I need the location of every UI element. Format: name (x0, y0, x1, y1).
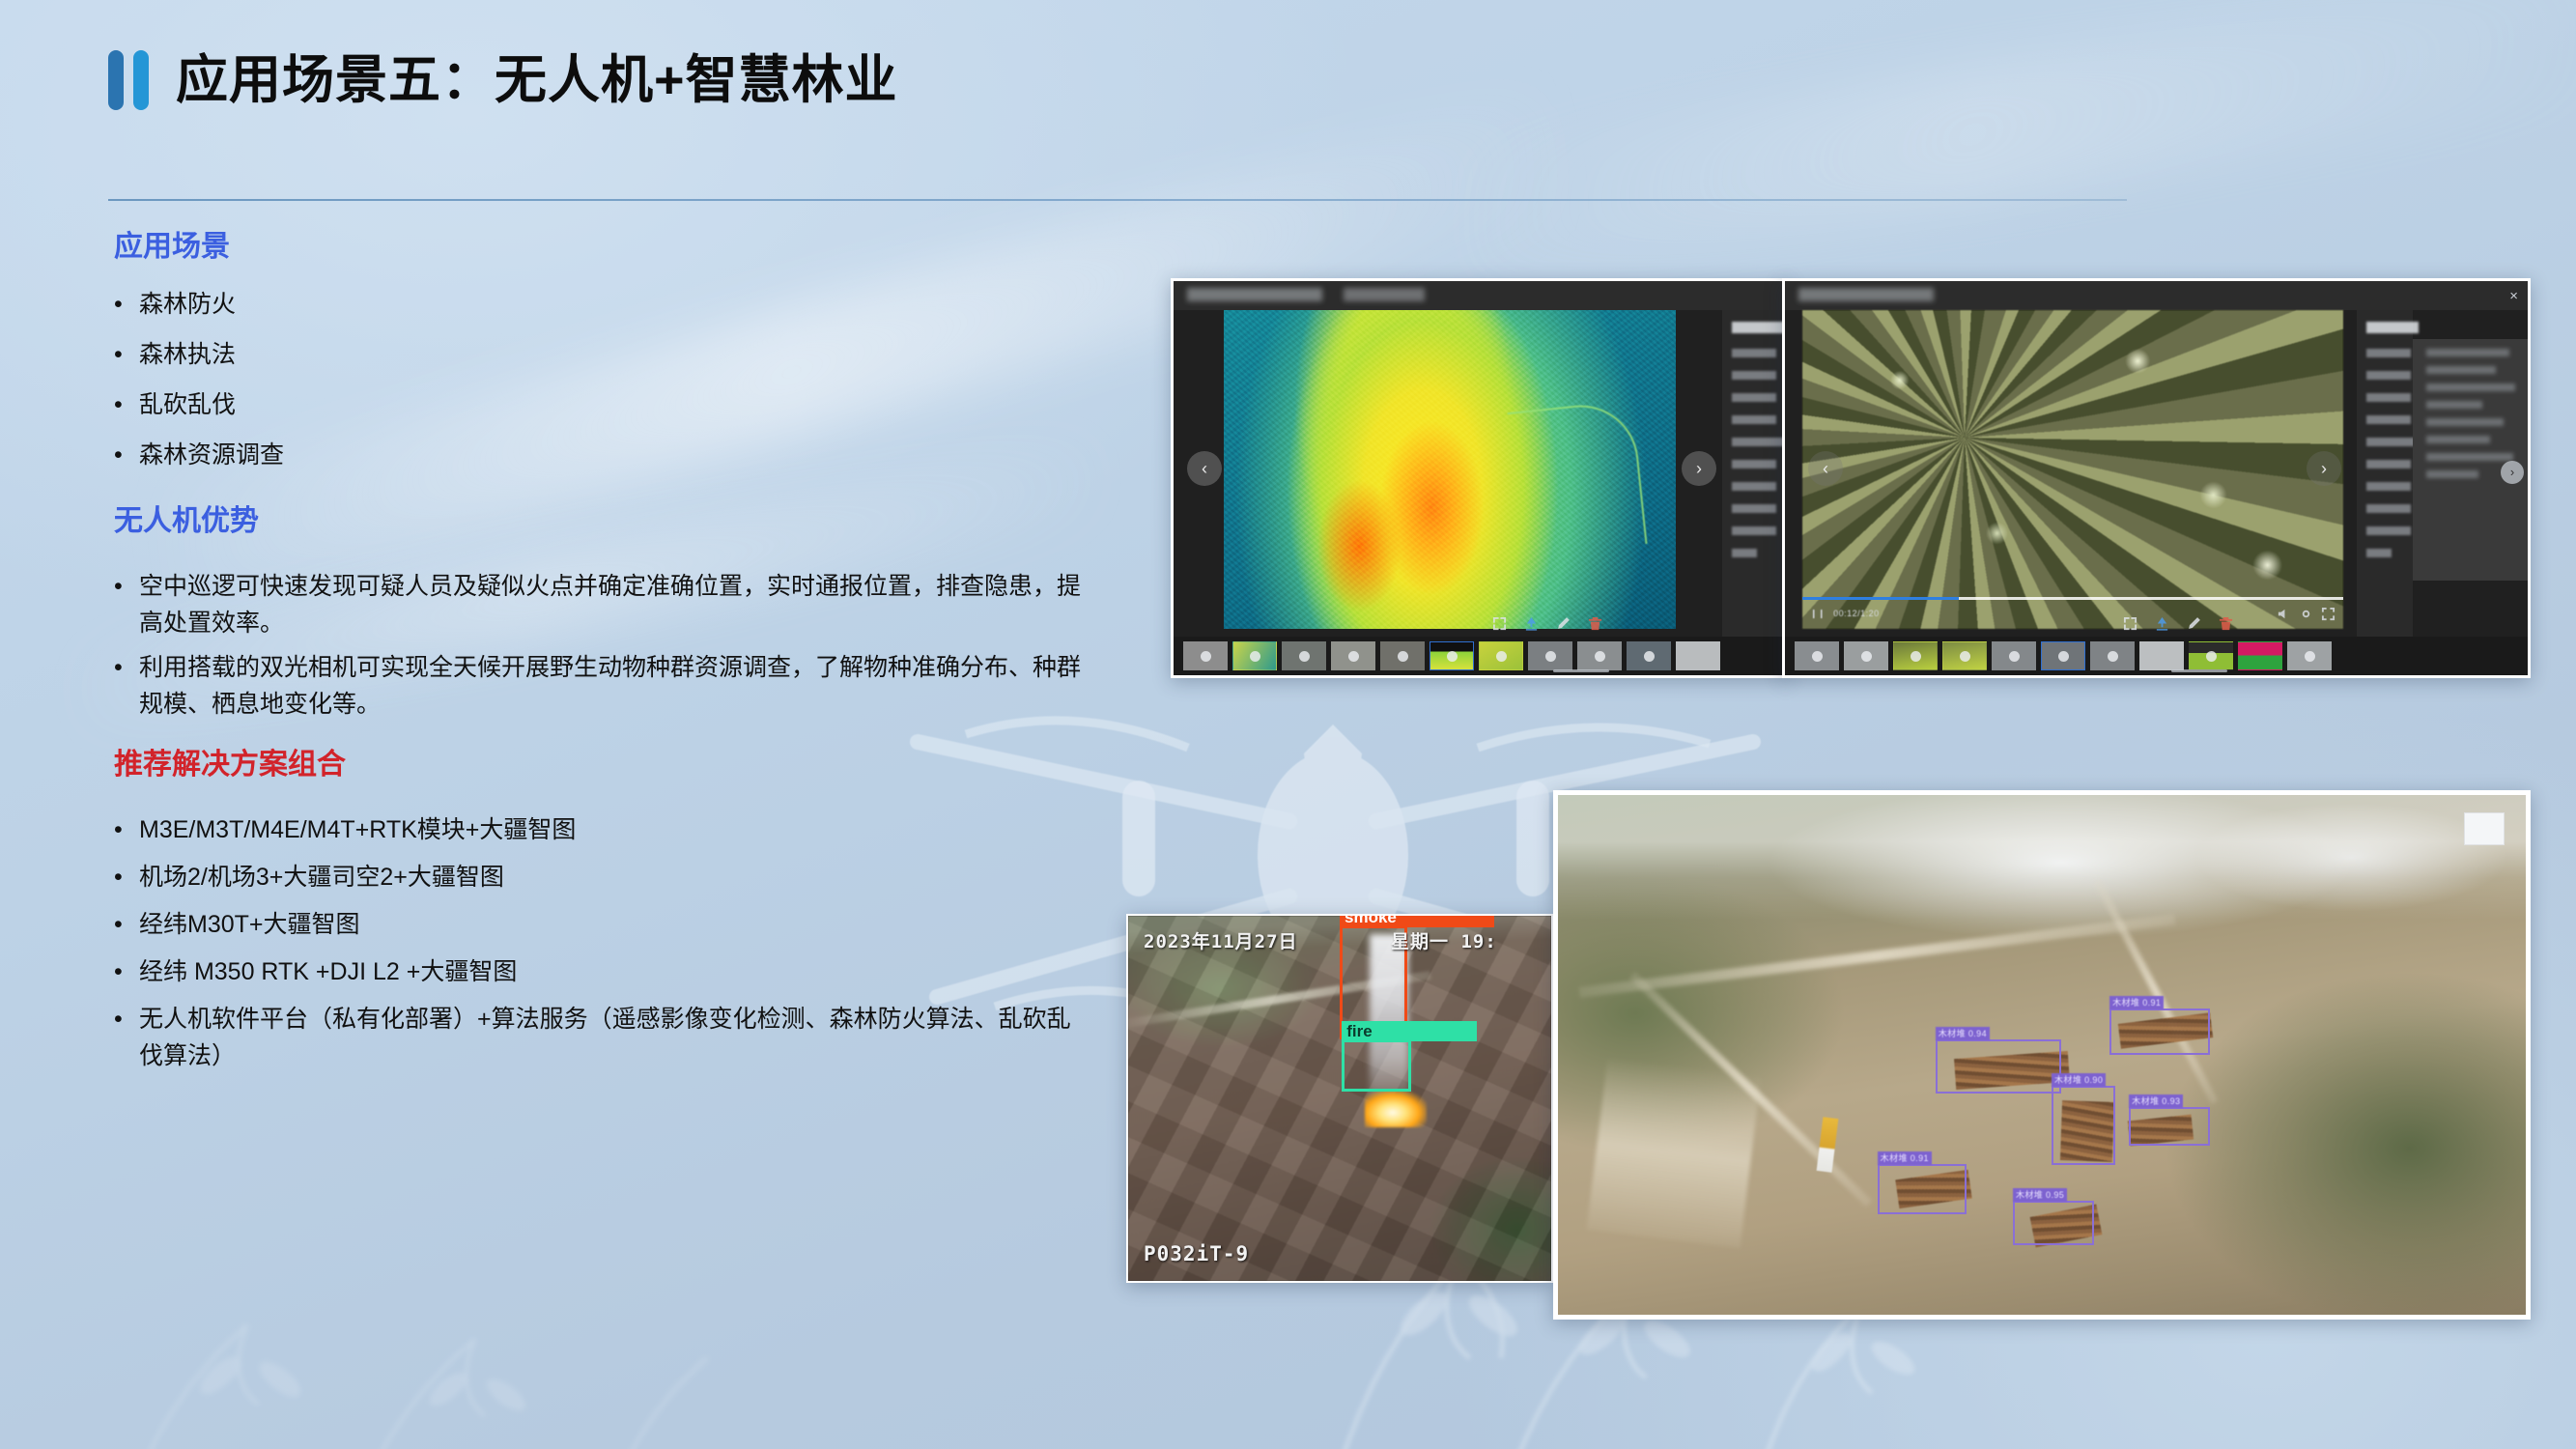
detail-line-blur (2426, 418, 2504, 426)
screenshot-logging-detection[interactable]: 木材堆 0.94 木材堆 0.91 木材堆 0.90 木材堆 0.93 木材堆 … (1553, 790, 2531, 1320)
list-item: • 利用搭载的双光相机可实现全天候开展野生动物种群资源调查，了解物种准确分布、种… (114, 649, 1090, 723)
osd-timestamp: 2023年11月27日 (1144, 927, 1298, 953)
detection-box-timber: 木材堆 0.94 (1936, 1039, 2061, 1094)
bullet-glyph: • (114, 286, 139, 323)
video-time-label: 00:12/1:20 (1833, 609, 1880, 618)
viewer-titlebar (1174, 281, 1786, 310)
play-icon (2058, 651, 2069, 662)
viewer-titlebar (1785, 281, 2528, 310)
detail-line-blur (2426, 384, 2515, 391)
detection-box-timber: 木材堆 0.93 (2129, 1107, 2210, 1146)
prev-arrow-button[interactable]: ‹ (1808, 451, 1843, 486)
list-item-label: 空中巡逻可快速发现可疑人员及疑似火点并确定准确位置，实时通报位置，排查隐患，提高… (139, 568, 1090, 641)
bullet-list-scenario: • 森林防火 • 森林执法 • 乱砍乱伐 • 森林资源调查 (114, 286, 1090, 473)
play-icon (1496, 651, 1507, 662)
sidebar-item-blur[interactable] (1732, 526, 1776, 535)
play-icon (1398, 651, 1408, 662)
image-stage (1224, 310, 1676, 629)
video-progress-bar[interactable] (1802, 597, 2343, 600)
close-icon[interactable]: × (2509, 289, 2518, 303)
play-icon (1960, 651, 1970, 662)
thumbnail-item[interactable] (1282, 641, 1326, 670)
bullet-glyph: • (114, 953, 139, 990)
viewer-chrome: ❙❙ 00:12/1:20 ‹ › (1785, 281, 2528, 675)
thumbnail-item[interactable] (1232, 641, 1277, 670)
slide-header: 应用场景五：无人机+智慧林业 (108, 50, 898, 110)
section-heading-advantages: 无人机优势 (114, 504, 1090, 539)
list-item-label: 森林执法 (139, 336, 1090, 373)
thumbnail-item[interactable] (1380, 641, 1425, 670)
corner-overlay-chip (2464, 812, 2505, 845)
thumbnail-scrollbar[interactable] (2171, 669, 2227, 672)
detection-label-smoke: smoke (1340, 914, 1494, 927)
sidebar-item-blur[interactable] (2366, 349, 2411, 357)
thumbnail-item-selected[interactable] (1430, 641, 1474, 670)
sidebar-item-blur[interactable] (1732, 438, 1786, 446)
titlebar-text-blur (1187, 288, 1322, 301)
bullet-glyph: • (114, 568, 139, 605)
video-toolbar[interactable] (2123, 616, 2233, 631)
foliage-watermark-icon (39, 1217, 773, 1449)
play-icon (1447, 651, 1458, 662)
settings-icon[interactable] (2299, 607, 2313, 621)
edit-icon[interactable] (2187, 616, 2201, 631)
title-divider (108, 199, 2127, 201)
detection-label-timber: 木材堆 0.90 (2052, 1073, 2106, 1087)
list-item-label: M3E/M3T/M4E/M4T+RTK模块+大疆智图 (139, 811, 1090, 848)
thumbnail-item[interactable] (2287, 641, 2332, 670)
list-item: • 森林防火 (114, 286, 1090, 323)
collapse-panel-button[interactable]: › (2501, 461, 2524, 484)
play-icon (1861, 651, 1872, 662)
list-item: • 乱砍乱伐 (114, 386, 1090, 423)
play-icon (2206, 651, 2217, 662)
list-item-label: 机场2/机场3+大疆司空2+大疆智图 (139, 859, 1090, 895)
list-item-label: 经纬 M350 RTK +DJI L2 +大疆智图 (139, 953, 1090, 990)
thumbnail-item[interactable] (1893, 641, 1938, 670)
list-item-label: 森林资源调查 (139, 437, 1090, 473)
flame-feature (1365, 1091, 1427, 1127)
next-arrow-button[interactable]: › (1682, 451, 1716, 486)
detail-line-blur (2426, 366, 2496, 374)
content-column: 应用场景 • 森林防火 • 森林执法 • 乱砍乱伐 • 森林资源调查 无人机优势 (114, 230, 1090, 1085)
detail-line-blur (2426, 349, 2509, 356)
prev-arrow-button[interactable]: ‹ (1187, 451, 1222, 486)
detection-label-timber: 木材堆 0.93 (2129, 1094, 2183, 1108)
sidebar-item-blur[interactable] (2366, 371, 2411, 380)
detection-label-timber: 木材堆 0.94 (1936, 1027, 1990, 1040)
detection-label-timber: 木材堆 0.91 (1878, 1151, 1932, 1165)
list-item: • 空中巡逻可快速发现可疑人员及疑似火点并确定准确位置，实时通报位置，排查隐患，… (114, 568, 1090, 641)
sidebar-item-blur[interactable] (1732, 482, 1776, 491)
accent-bar-dark (108, 50, 124, 110)
detection-box-fire: fire (1342, 1039, 1411, 1092)
list-item: • 森林资源调查 (114, 437, 1090, 473)
video-controls[interactable]: ❙❙ 00:12/1:20 (1802, 604, 2343, 623)
sidebar-item-blur[interactable] (2366, 482, 2411, 491)
fullscreen-icon[interactable] (2123, 616, 2137, 631)
detection-label-timber: 木材堆 0.91 (2109, 996, 2164, 1009)
section-heading-solutions: 推荐解决方案组合 (114, 748, 1090, 782)
thumbnail-item[interactable] (1676, 641, 1720, 670)
detail-line-blur (2426, 453, 2513, 461)
list-item: • 经纬M30T+大疆智图 (114, 906, 1090, 943)
next-arrow-button[interactable]: › (2307, 451, 2341, 486)
thumbnail-item[interactable] (1844, 641, 1888, 670)
sidebar-item-blur[interactable] (2366, 415, 2411, 424)
section-heading-scenario: 应用场景 (114, 230, 1090, 265)
bullet-glyph: • (114, 336, 139, 373)
list-item-label: 森林防火 (139, 286, 1090, 323)
osd-camera-id: P032iT-9 (1144, 1242, 1249, 1265)
title-accent-bars (108, 50, 149, 110)
list-item-label: 利用搭载的双光相机可实现全天候开展野生动物种群资源调查，了解物种准确分布、种群规… (139, 649, 1090, 723)
delete-icon[interactable] (2219, 616, 2233, 631)
road-feature (1587, 1057, 1762, 1248)
list-item-label: 经纬M30T+大疆智图 (139, 906, 1090, 943)
sidebar-item-blur[interactable] (1732, 460, 1776, 469)
slide-canvas: 应用场景五：无人机+智慧林业 应用场景 • 森林防火 • 森林执法 • 乱砍乱伐… (0, 0, 2576, 1449)
list-item: • M3E/M3T/M4E/M4T+RTK模块+大疆智图 (114, 811, 1090, 848)
detail-line-blur (2426, 470, 2478, 478)
thumbnail-item[interactable] (2090, 641, 2135, 670)
thumbnail-item[interactable] (2139, 641, 2184, 670)
sidebar-item-blur[interactable] (2366, 393, 2411, 402)
sidebar-item-blur[interactable] (1732, 549, 1757, 557)
titlebar-text-blur (1344, 288, 1425, 301)
thumbnail-item[interactable] (1795, 641, 1839, 670)
thumbnail-item[interactable] (1992, 641, 2036, 670)
viewer-info-sidebar[interactable] (1722, 310, 1786, 675)
list-item-label: 无人机软件平台（私有化部署）+算法服务（遥感影像变化检测、森林防火算法、乱砍乱伐… (139, 1001, 1090, 1074)
sidebar-item-blur[interactable] (1732, 349, 1776, 357)
sidebar-item-blur[interactable] (1732, 504, 1776, 513)
play-icon (1644, 651, 1655, 662)
list-item: • 机场2/机场3+大疆司空2+大疆智图 (114, 859, 1090, 895)
bullet-glyph: • (114, 386, 139, 423)
fullscreen-icon[interactable] (2321, 607, 2335, 621)
screenshot-thermal-viewer[interactable]: ‹ › (1171, 278, 1789, 678)
play-icon (1299, 651, 1310, 662)
detail-line-blur (2426, 401, 2482, 409)
play-icon (1911, 651, 1921, 662)
image-toolbar[interactable] (1492, 616, 1602, 631)
bullet-glyph: • (114, 859, 139, 895)
sidebar-item-blur[interactable] (2366, 549, 2392, 557)
bullet-glyph: • (114, 649, 139, 686)
viewer-info-sidebar[interactable] (2357, 310, 2413, 675)
bullet-list-solutions: • M3E/M3T/M4E/M4T+RTK模块+大疆智图 • 机场2/机场3+大… (114, 811, 1090, 1074)
sidebar-item-blur[interactable] (1732, 393, 1776, 402)
detection-box-timber: 木材堆 0.91 (2109, 1009, 2210, 1055)
play-icon (1348, 651, 1359, 662)
volume-icon[interactable] (2277, 607, 2291, 621)
play-icon (1595, 651, 1605, 662)
list-item: • 森林执法 (114, 336, 1090, 373)
detail-line-blur (2426, 436, 2490, 443)
screenshot-video-viewer[interactable]: ❙❙ 00:12/1:20 ‹ › (1782, 278, 2531, 678)
thumbnail-item[interactable] (1627, 641, 1671, 670)
detection-box-timber: 木材堆 0.95 (2013, 1201, 2094, 1245)
play-icon (2108, 651, 2118, 662)
thumbnail-item[interactable] (1577, 641, 1622, 670)
thumbnail-item[interactable] (2189, 641, 2233, 670)
bullet-glyph: • (114, 1001, 139, 1037)
thumbnail-item[interactable] (1479, 641, 1523, 670)
sidebar-item-blur[interactable] (1732, 371, 1776, 380)
detection-label-timber: 木材堆 0.95 (2013, 1188, 2067, 1202)
thumbnail-item[interactable] (1942, 641, 1987, 670)
video-progress-fill (1802, 597, 1959, 600)
thumbnail-strip[interactable] (1174, 637, 1786, 675)
bullet-glyph: • (114, 437, 139, 473)
thumbnail-item[interactable] (1331, 641, 1375, 670)
page-title: 应用场景五：无人机+智慧林业 (176, 54, 898, 106)
sidebar-item-blur[interactable] (2366, 504, 2411, 513)
screenshot-fire-detection[interactable]: smoke fire 2023年11月27日 星期一 19: P032iT-9 (1126, 914, 1553, 1283)
play-icon (2009, 651, 2020, 662)
play-icon (1250, 651, 1260, 662)
play-icon (1812, 651, 1823, 662)
bullet-glyph: • (114, 906, 139, 943)
play-icon (2305, 651, 2315, 662)
forest-canopy-video-frame (1802, 310, 2343, 629)
thumbnail-item-selected[interactable] (2041, 641, 2085, 670)
thumbnail-item[interactable] (1528, 641, 1572, 670)
detection-box-timber: 木材堆 0.90 (2052, 1086, 2115, 1165)
detection-box-timber: 木材堆 0.91 (1878, 1164, 1967, 1214)
sidebar-title-blur (1732, 322, 1784, 333)
osd-weekday-time: 星期一 19: (1391, 927, 1497, 953)
list-item-label: 乱砍乱伐 (139, 386, 1090, 423)
video-stage[interactable]: ❙❙ 00:12/1:20 (1802, 310, 2343, 629)
list-item: • 经纬 M350 RTK +DJI L2 +大疆智图 (114, 953, 1090, 990)
titlebar-text-blur (1798, 288, 1934, 301)
edit-icon[interactable] (1556, 616, 1571, 631)
thumbnail-scrollbar[interactable] (1553, 669, 1609, 672)
fullscreen-icon[interactable] (1492, 616, 1507, 631)
thumbnail-item[interactable] (2238, 641, 2282, 670)
download-icon[interactable] (2155, 616, 2169, 631)
thumbnail-item[interactable] (1183, 641, 1228, 670)
sidebar-title-blur (2366, 322, 2419, 333)
play-pause-button[interactable]: ❙❙ (1810, 609, 1826, 619)
bullet-glyph: • (114, 811, 139, 848)
sidebar-item-blur[interactable] (1732, 415, 1776, 424)
list-item: • 无人机软件平台（私有化部署）+算法服务（遥感影像变化检测、森林防火算法、乱砍… (114, 1001, 1090, 1074)
accent-bar-light (133, 50, 149, 110)
bullet-list-advantages: • 空中巡逻可快速发现可疑人员及疑似火点并确定准确位置，实时通报位置，排查隐患，… (114, 568, 1090, 723)
thumbnail-strip[interactable] (1785, 637, 2528, 675)
viewer-chrome: ‹ › (1174, 281, 1786, 675)
play-icon (1545, 651, 1556, 662)
detection-label-fire: fire (1342, 1021, 1477, 1041)
sidebar-item-blur[interactable] (2366, 526, 2411, 535)
play-icon (1201, 651, 1211, 662)
delete-icon[interactable] (1588, 616, 1602, 631)
cloud-streak-decoration (1445, 0, 2576, 283)
sidebar-item-blur[interactable] (2366, 460, 2411, 469)
download-icon[interactable] (1524, 616, 1539, 631)
viewer-detail-panel (2413, 339, 2529, 581)
